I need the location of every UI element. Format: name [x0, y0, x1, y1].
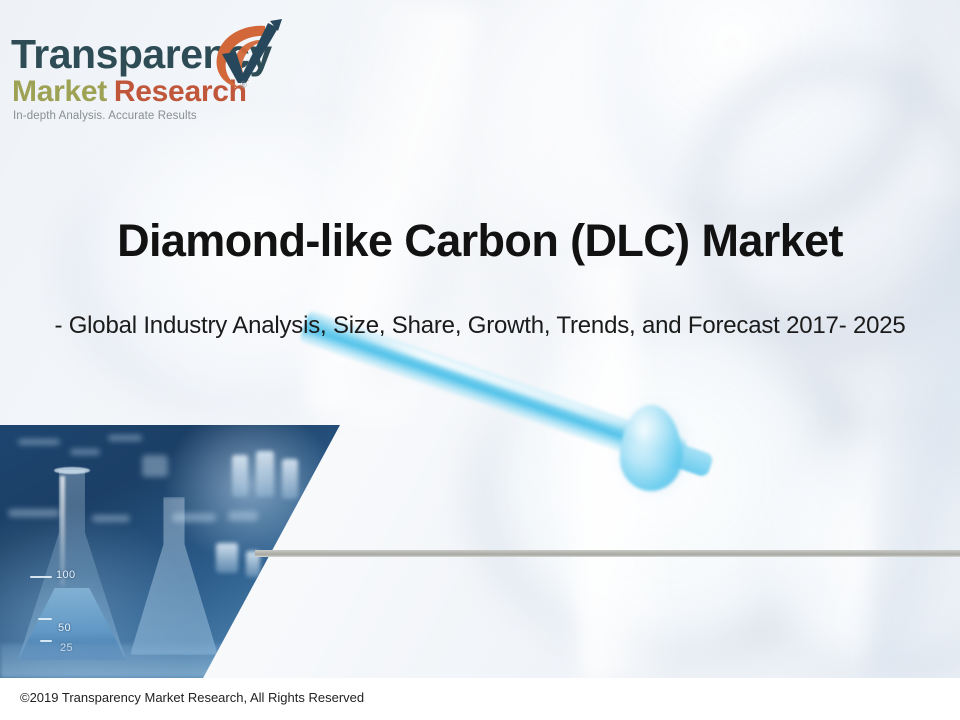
- blurred-beaker-rim-4: [60, 120, 440, 420]
- light-streak-1: [301, 0, 478, 426]
- registered-trademark-icon: ®: [240, 80, 247, 90]
- logo-tagline: In-depth Analysis. Accurate Results: [13, 110, 197, 122]
- chalk-mark: [228, 511, 258, 521]
- blurred-beaker-rim-5: [760, 430, 960, 678]
- flask-tick: [40, 640, 52, 642]
- flask-marking-50: 50: [58, 622, 71, 634]
- flask-highlight: [60, 476, 65, 586]
- blurred-beaker-rim-3: [470, 330, 890, 660]
- chalk-mark: [8, 509, 60, 517]
- flask-glass: [18, 470, 126, 660]
- page-title: Diamond-like Carbon (DLC) Market: [0, 215, 960, 267]
- chalk-mark: [18, 439, 60, 445]
- test-tube: [246, 551, 260, 577]
- chalk-mark: [172, 513, 216, 522]
- chalk-mark: [92, 515, 130, 522]
- blurred-beaker-rim-1: [600, 0, 930, 240]
- light-streak-3: [863, 196, 960, 678]
- test-tube: [256, 451, 274, 497]
- erlenmeyer-flask: 100 50 25: [18, 470, 126, 660]
- logo-market-text: Market: [12, 75, 107, 108]
- flask-liquid: [18, 588, 126, 660]
- flask-tick: [38, 618, 52, 620]
- footer-bar: ©2019 Transparency Market Research, All …: [0, 678, 960, 720]
- checkmark-swoosh-icon: [202, 17, 288, 103]
- flask-marking-100: 100: [56, 569, 76, 581]
- page-subtitle: - Global Industry Analysis, Size, Share,…: [0, 312, 960, 340]
- test-tube: [282, 459, 298, 499]
- test-tube: [216, 543, 238, 573]
- test-tube: [232, 455, 248, 497]
- copyright-text: ©2019 Transparency Market Research, All …: [20, 690, 364, 705]
- logo[interactable]: Transparency MarketResearch In-depth Ana…: [10, 22, 280, 130]
- chalk-mark: [108, 435, 142, 441]
- background-flask: [130, 497, 218, 655]
- presentation-slide: 100 50 25 Transparency MarketResearch In…: [0, 0, 960, 720]
- chalk-mark: [142, 455, 168, 477]
- flask-tick: [30, 576, 52, 578]
- title-block: Diamond-like Carbon (DLC) Market: [0, 215, 960, 267]
- flask-marking-25: 25: [60, 642, 73, 654]
- flask-rim: [54, 467, 90, 474]
- chalk-mark: [70, 449, 100, 455]
